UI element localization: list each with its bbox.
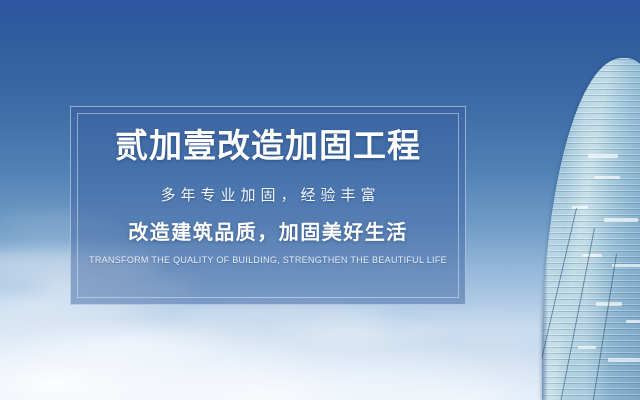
window-highlight xyxy=(608,358,640,362)
window-highlight xyxy=(626,320,640,323)
window-highlight xyxy=(582,254,602,257)
tagline: 改造建筑品质，加固美好生活 xyxy=(71,221,465,245)
hero-text-panel: 贰加壹改造加固工程 多年专业加固，经验丰富 改造建筑品质，加固美好生活 TRAN… xyxy=(70,106,466,305)
skyscraper-tower xyxy=(542,58,640,400)
window-highlight xyxy=(604,218,638,222)
window-highlight xyxy=(578,346,596,349)
window-highlight xyxy=(572,206,588,209)
window-highlight xyxy=(588,154,618,158)
banner-image: 贰加壹改造加固工程 多年专业加固，经验丰富 改造建筑品质，加固美好生活 TRAN… xyxy=(0,0,640,400)
subtitle: 多年专业加固，经验丰富 xyxy=(71,187,465,205)
hero-text-group: 贰加壹改造加固工程 多年专业加固，经验丰富 改造建筑品质，加固美好生活 TRAN… xyxy=(71,129,465,265)
english-tagline: TRANSFORM THE QUALITY OF BUILDING, STREN… xyxy=(71,255,465,266)
window-highlight xyxy=(612,264,640,267)
window-highlight xyxy=(594,176,620,179)
page-title: 贰加壹改造加固工程 xyxy=(71,129,465,164)
skyscraper xyxy=(520,0,640,400)
